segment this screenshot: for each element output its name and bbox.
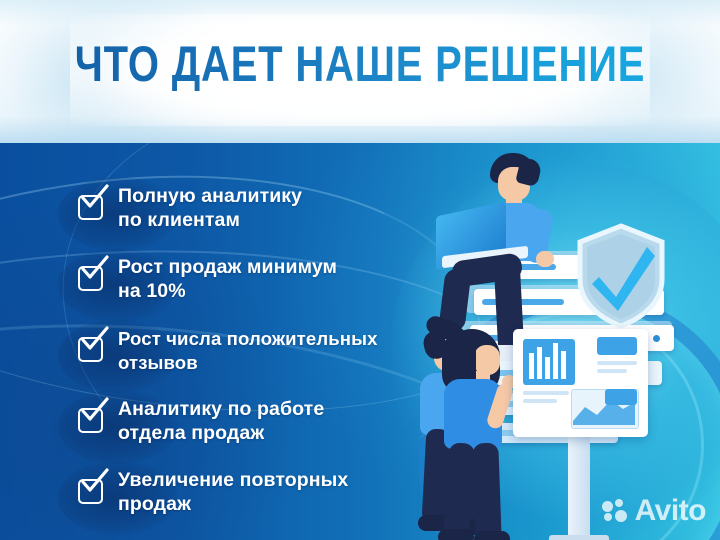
checkmark-icon xyxy=(80,397,110,427)
list-item-label: Аналитику по работе отдела продаж xyxy=(118,398,463,445)
list-item[interactable]: Увеличение повторных продаж xyxy=(40,469,460,527)
list-item[interactable]: Аналитику по работе отдела продаж xyxy=(40,398,460,456)
list-item-label: Полную аналитику по клиентам xyxy=(118,185,463,232)
list-item[interactable]: Полную аналитику по клиентам xyxy=(40,185,460,243)
checkmark-icon xyxy=(80,255,110,285)
benefits-list: Полную аналитику по клиентам Рост продаж… xyxy=(0,143,470,540)
checkmark-icon xyxy=(80,184,110,214)
avito-watermark-label: Avito xyxy=(635,496,706,526)
security-shield-icon xyxy=(575,223,667,329)
poster-header: ЧТО ДАЕТ НАШЕ РЕШЕНИЕ xyxy=(0,0,720,143)
analytics-dashboard-board xyxy=(513,329,648,437)
page-title: ЧТО ДАЕТ НАШЕ РЕШЕНИЕ xyxy=(72,36,648,92)
promo-poster: ЧТО ДАЕТ НАШЕ РЕШЕНИЕ xyxy=(0,0,720,540)
checkmark-icon xyxy=(80,326,110,356)
avito-watermark: Avito xyxy=(602,494,706,528)
list-item-label: Увеличение повторных продаж xyxy=(118,469,463,516)
list-item-label: Рост числа положительных отзывов xyxy=(118,327,463,374)
avito-dots-logo-icon xyxy=(602,499,628,523)
list-item[interactable]: Рост числа положительных отзывов xyxy=(40,327,460,385)
list-item[interactable]: Рост продаж минимум на 10% xyxy=(40,256,460,314)
dashboard-stand xyxy=(568,437,590,540)
list-item-label: Рост продаж минимум на 10% xyxy=(118,256,463,303)
dashboard-stand-base xyxy=(549,535,609,540)
checkmark-icon xyxy=(80,468,110,498)
